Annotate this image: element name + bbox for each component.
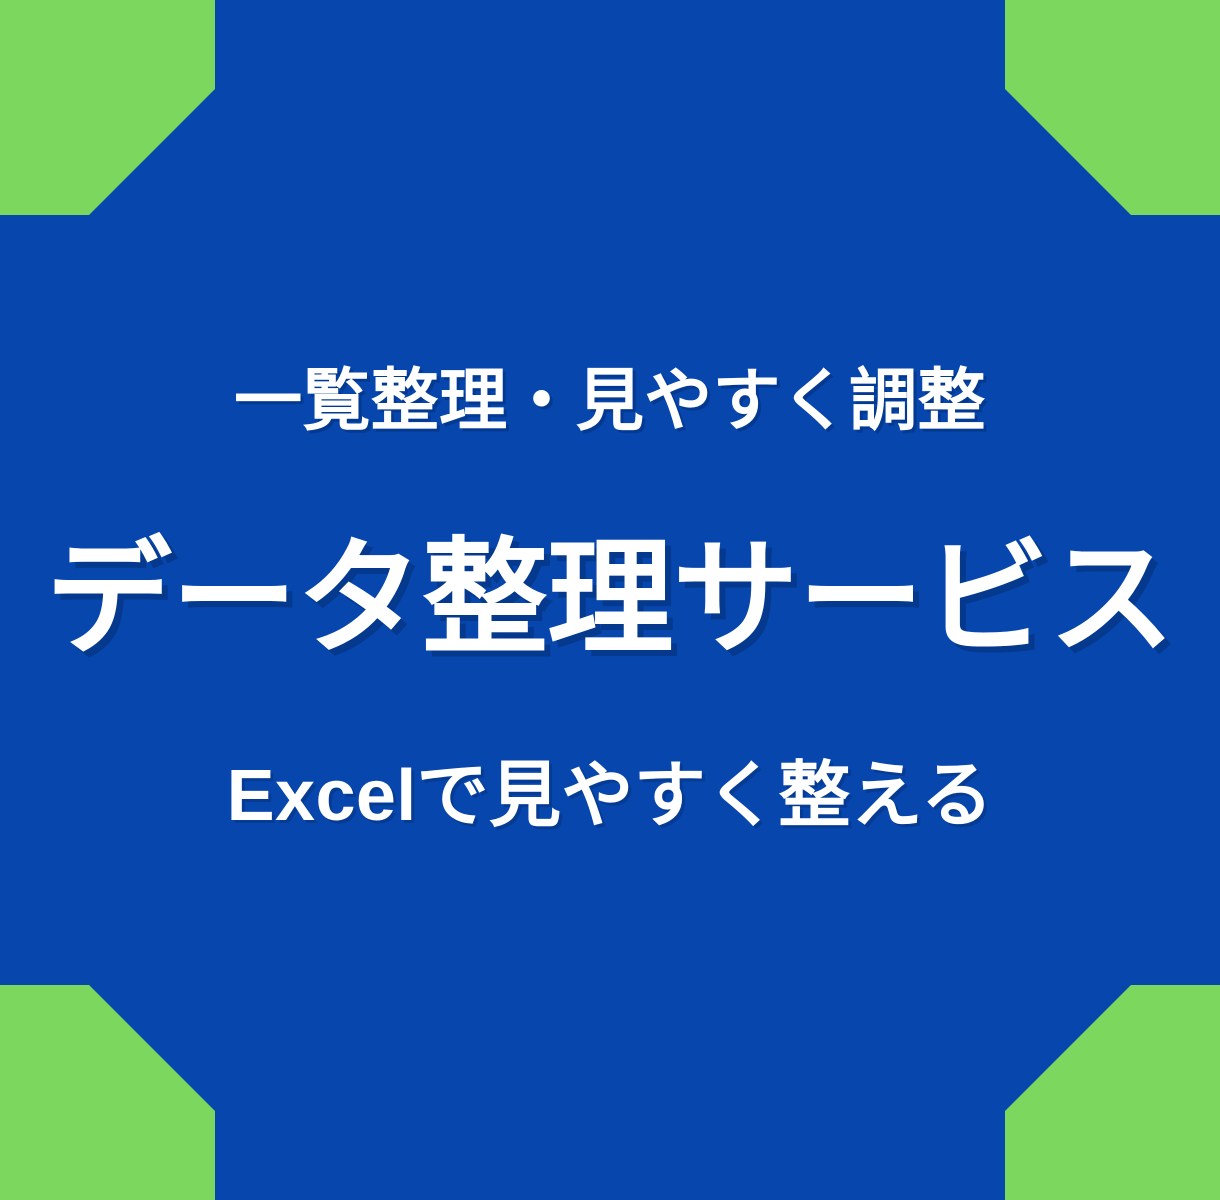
promo-banner: 一覧整理・見やすく調整 データ整理サービス Excelで見やすく整える [0,0,1220,1200]
banner-headline: データ整理サービス [34,531,1186,667]
banner-content: 一覧整理・見やすく調整 データ整理サービス Excelで見やすく整える [0,0,1220,1200]
banner-eyebrow: 一覧整理・見やすく調整 [214,364,1006,439]
banner-tagline: Excelで見やすく整える [207,757,1014,836]
